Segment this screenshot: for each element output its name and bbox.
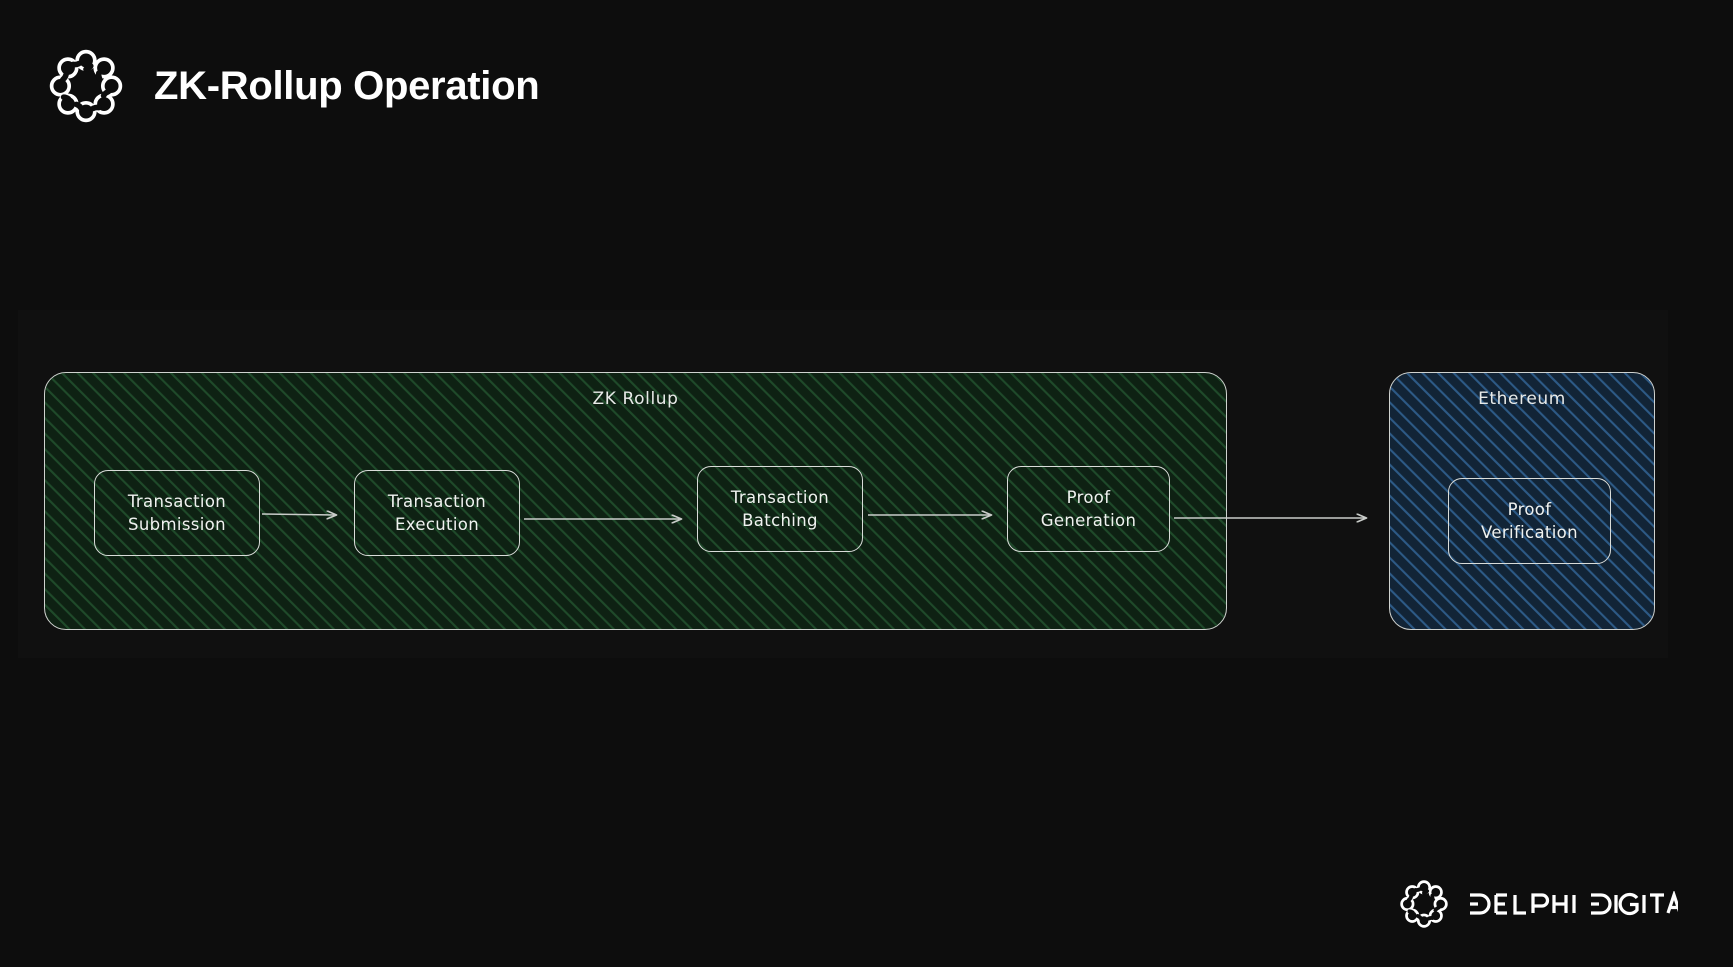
- footer-brand: [1398, 878, 1678, 930]
- node-label-line-1: Proof: [1508, 498, 1552, 521]
- node-transaction-execution[interactable]: Transaction Execution: [354, 470, 520, 556]
- node-label-line-2: Execution: [395, 513, 479, 536]
- group-label-zk-rollup: ZK Rollup: [45, 389, 1226, 409]
- node-transaction-submission[interactable]: Transaction Submission: [94, 470, 260, 556]
- delphi-knot-logo-icon: [1398, 878, 1450, 930]
- node-label-line-2: Batching: [742, 509, 818, 532]
- group-label-ethereum: Ethereum: [1390, 389, 1654, 409]
- footer-wordmark: [1468, 891, 1678, 917]
- node-label-line-1: Proof: [1067, 486, 1111, 509]
- node-label-line-1: Transaction: [388, 490, 486, 513]
- node-proof-generation[interactable]: Proof Generation: [1007, 466, 1170, 552]
- node-transaction-batching[interactable]: Transaction Batching: [697, 466, 863, 552]
- node-label-line-2: Verification: [1481, 521, 1578, 544]
- node-label-line-2: Generation: [1041, 509, 1137, 532]
- node-label-line-2: Submission: [128, 513, 226, 536]
- node-label-line-1: Transaction: [128, 490, 226, 513]
- node-label-line-1: Transaction: [731, 486, 829, 509]
- flowchart-diagram: ZK Rollup Ethereum: [0, 0, 1733, 967]
- diagram-page: ZK-Rollup Operation ZK Rollup: [0, 0, 1733, 967]
- node-proof-verification[interactable]: Proof Verification: [1448, 478, 1611, 564]
